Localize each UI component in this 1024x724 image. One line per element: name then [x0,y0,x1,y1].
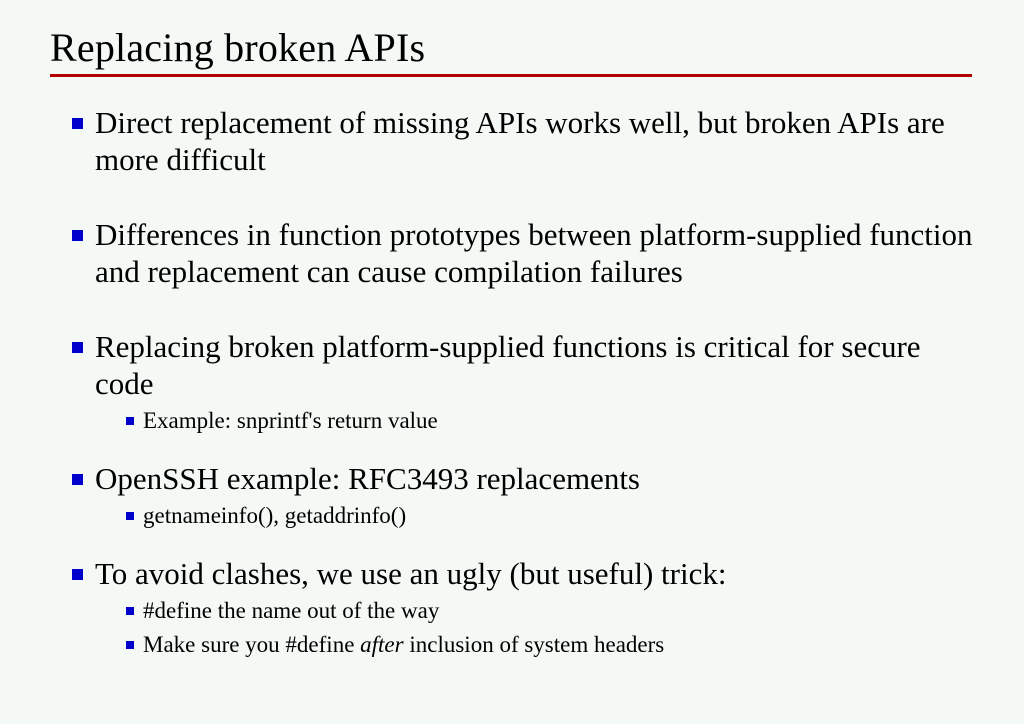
bullet-item-level1: To avoid clashes, we use an ugly (but us… [0,555,1024,592]
bullet-item-level2: #define the name out of the way [0,595,1024,626]
bullet-item-level1: OpenSSH example: RFC3493 replacements [0,460,1024,497]
slide-canvas: Replacing broken APIs Direct replacement… [0,0,1024,724]
title-underline-rule [50,74,972,77]
square-subbullet-icon [126,641,134,649]
square-bullet-icon [72,569,83,580]
bullet-item-level1: Replacing broken platform-supplied funct… [0,328,1024,402]
slide-title-block: Replacing broken APIs [50,26,974,77]
subbullet-text-mixed: Make sure you #define after inclusion of… [143,629,984,660]
square-subbullet-icon [126,512,134,520]
square-bullet-icon [72,230,83,241]
bullet-item-level2: getnameinfo(), getaddrinfo() [0,500,1024,531]
page-title: Replacing broken APIs [50,26,974,70]
bullet-item-level2: Make sure you #define after inclusion of… [0,629,1024,660]
bullet-item-level1: Direct replacement of missing APIs works… [0,104,1024,178]
bullet-text: Direct replacement of missing APIs works… [95,104,984,178]
square-bullet-icon [72,474,83,485]
bullet-text: OpenSSH example: RFC3493 replacements [95,460,984,497]
bullet-item-level1: Differences in function prototypes betwe… [0,216,1024,290]
bullet-text: Differences in function prototypes betwe… [95,216,984,290]
subbullet-text: Example: snprintf's return value [143,405,984,436]
bullet-text: Replacing broken platform-supplied funct… [95,328,984,402]
square-subbullet-icon [126,417,134,425]
subbullet-text: getnameinfo(), getaddrinfo() [143,500,984,531]
subbullet-text-emphasis: after [360,632,403,657]
bullet-item-level2: Example: snprintf's return value [0,405,1024,436]
spacer [0,290,1024,328]
slide-body: Direct replacement of missing APIs works… [0,104,1024,660]
square-bullet-icon [72,118,83,129]
subbullet-text-suffix: inclusion of system headers [404,632,665,657]
square-subbullet-icon [126,607,134,615]
bullet-text: To avoid clashes, we use an ugly (but us… [95,555,984,592]
spacer [0,531,1024,555]
subbullet-text-prefix: Make sure you #define [143,632,360,657]
square-bullet-icon [72,342,83,353]
spacer [0,436,1024,460]
spacer [0,178,1024,216]
subbullet-text: #define the name out of the way [143,595,984,626]
